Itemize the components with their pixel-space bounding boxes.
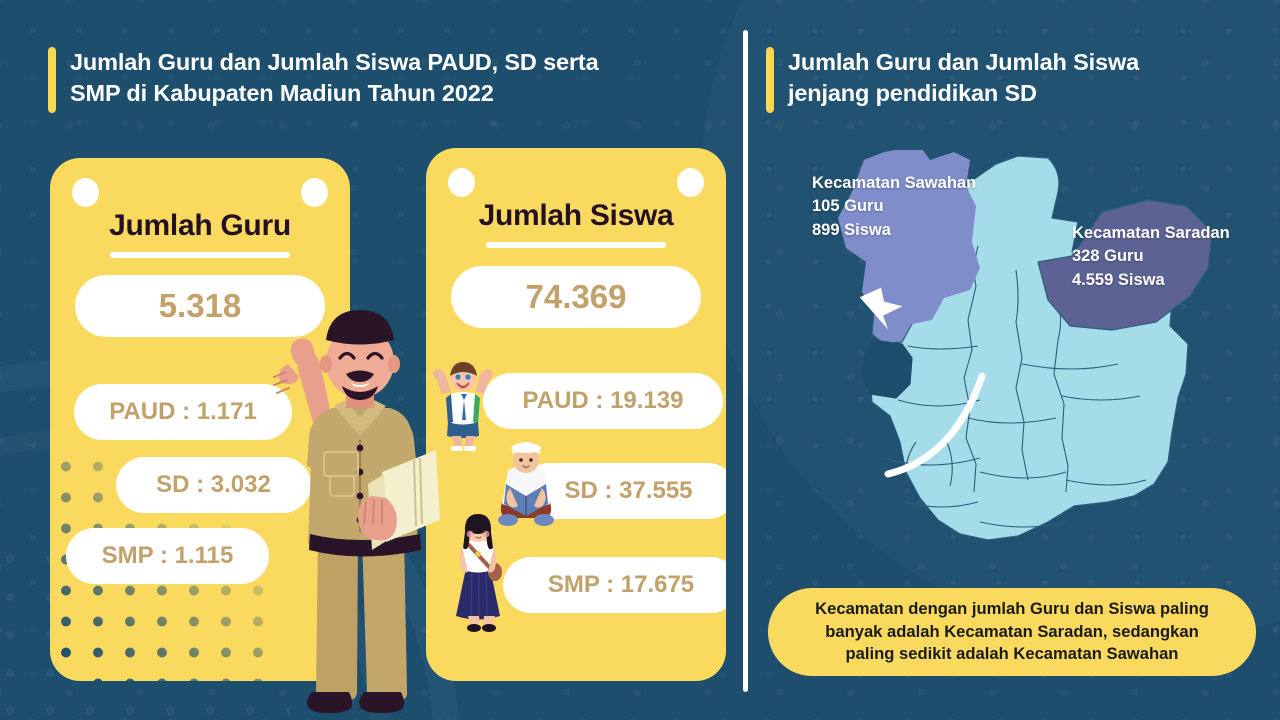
caption-line3: paling sedikit adalah Kecamatan Sawahan xyxy=(815,643,1209,666)
siswa-total-value: 74.369 xyxy=(451,266,701,328)
left-panel-title-line2: SMP di Kabupaten Madiun Tahun 2022 xyxy=(70,78,599,109)
map-summary-caption-text: Kecamatan dengan jumlah Guru dan Siswa p… xyxy=(815,598,1209,667)
punch-hole-right xyxy=(677,168,704,197)
header-accent-bar xyxy=(48,47,56,113)
right-panel-header: Jumlah Guru dan Jumlah Siswa jenjang pen… xyxy=(766,47,1139,113)
card-title-siswa: Jumlah Siswa xyxy=(426,199,726,233)
punch-hole-left xyxy=(72,178,99,207)
siswa-paud-row: PAUD : 19.139 xyxy=(483,373,723,429)
right-panel-title-line1: Jumlah Guru dan Jumlah Siswa xyxy=(788,47,1139,78)
map-label-saradan-name: Kecamatan Saradan xyxy=(1072,222,1230,245)
caption-line1: Kecamatan dengan jumlah Guru dan Siswa p… xyxy=(815,598,1209,621)
siswa-smp-row: SMP : 17.675 xyxy=(503,557,726,613)
right-panel-title: Jumlah Guru dan Jumlah Siswa jenjang pen… xyxy=(788,47,1139,113)
map-label-saradan: Kecamatan Saradan 328 Guru 4.559 Siswa xyxy=(1072,222,1230,292)
left-panel-title: Jumlah Guru dan Jumlah Siswa PAUD, SD se… xyxy=(70,47,599,113)
map-label-sawahan-students: 899 Siswa xyxy=(812,219,976,242)
punch-hole-left xyxy=(448,168,475,197)
panel-divider xyxy=(743,30,748,692)
left-panel-header: Jumlah Guru dan Jumlah Siswa PAUD, SD se… xyxy=(48,47,599,113)
map-summary-caption: Kecamatan dengan jumlah Guru dan Siswa p… xyxy=(768,588,1256,676)
teacher-pointing-with-book-icon xyxy=(262,300,472,720)
header-accent-bar xyxy=(766,47,774,113)
caption-line2: banyak adalah Kecamatan Saradan, sedangk… xyxy=(815,621,1209,644)
card-title-guru: Jumlah Guru xyxy=(50,209,350,243)
map-label-saradan-students: 4.559 Siswa xyxy=(1072,269,1230,292)
map-label-sawahan: Kecamatan Sawahan 105 Guru 899 Siswa xyxy=(812,172,976,242)
map-label-sawahan-name: Kecamatan Sawahan xyxy=(812,172,976,195)
card-title-underline xyxy=(486,242,666,248)
right-panel-title-line2: jenjang pendidikan SD xyxy=(788,78,1139,109)
card-title-underline xyxy=(110,252,290,258)
map-label-saradan-teachers: 328 Guru xyxy=(1072,245,1230,268)
guru-paud-row: PAUD : 1.171 xyxy=(74,384,292,440)
left-panel-title-line1: Jumlah Guru dan Jumlah Siswa PAUD, SD se… xyxy=(70,47,599,78)
map-label-sawahan-teachers: 105 Guru xyxy=(812,195,976,218)
map-region-dark xyxy=(862,340,912,398)
punch-hole-right xyxy=(301,178,328,207)
guru-smp-row: SMP : 1.115 xyxy=(66,528,269,584)
